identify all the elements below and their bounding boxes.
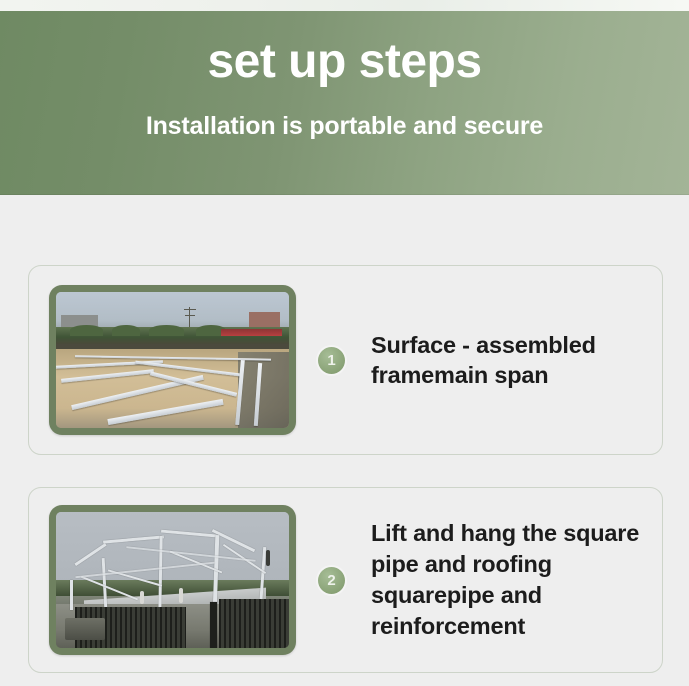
photo-2-worker-1 — [140, 591, 144, 605]
step-2-photo-frame — [49, 505, 296, 655]
step-card-2[interactable]: 2 Lift and hang the square pipe and roof… — [28, 487, 663, 673]
photo-1-tree-3 — [149, 325, 184, 336]
photo-2-strut-2 — [158, 536, 162, 612]
step-2-body: 2 Lift and hang the square pipe and roof… — [318, 518, 662, 641]
photo-2-fence-post — [210, 602, 217, 648]
page-title: set up steps — [0, 37, 689, 87]
step-1-description: Surface - assembled framemain span — [371, 330, 596, 390]
photo-1-red-truck — [221, 329, 282, 336]
steps-content-area: 1 Surface - assembled framemain span — [0, 195, 689, 686]
photo-2-leg-left — [70, 580, 73, 610]
step-2-description: Lift and hang the square pipe and roofin… — [371, 518, 639, 641]
photo-2-crate — [65, 618, 105, 640]
top-white-strip — [0, 0, 689, 11]
step-1-body: 1 Surface - assembled framemain span — [318, 330, 662, 390]
step-1-photo-frame — [49, 285, 296, 435]
step-1-photo — [56, 292, 289, 428]
step-1-number-badge: 1 — [318, 347, 345, 374]
photo-1-tree-2 — [112, 325, 140, 336]
photo-2-fence-right — [219, 599, 289, 648]
page-subtitle: Installation is portable and secure — [0, 112, 689, 141]
photo-1-tarp — [238, 352, 289, 428]
step-card-1[interactable]: 1 Surface - assembled framemain span — [28, 265, 663, 455]
page-header-banner: set up steps Installation is portable an… — [0, 11, 689, 195]
photo-1-tree-1 — [70, 325, 103, 336]
step-2-number-badge: 2 — [318, 567, 345, 594]
step-2-photo — [56, 512, 289, 648]
photo-2-worker-3 — [266, 550, 270, 566]
photo-2-worker-2 — [179, 588, 183, 603]
